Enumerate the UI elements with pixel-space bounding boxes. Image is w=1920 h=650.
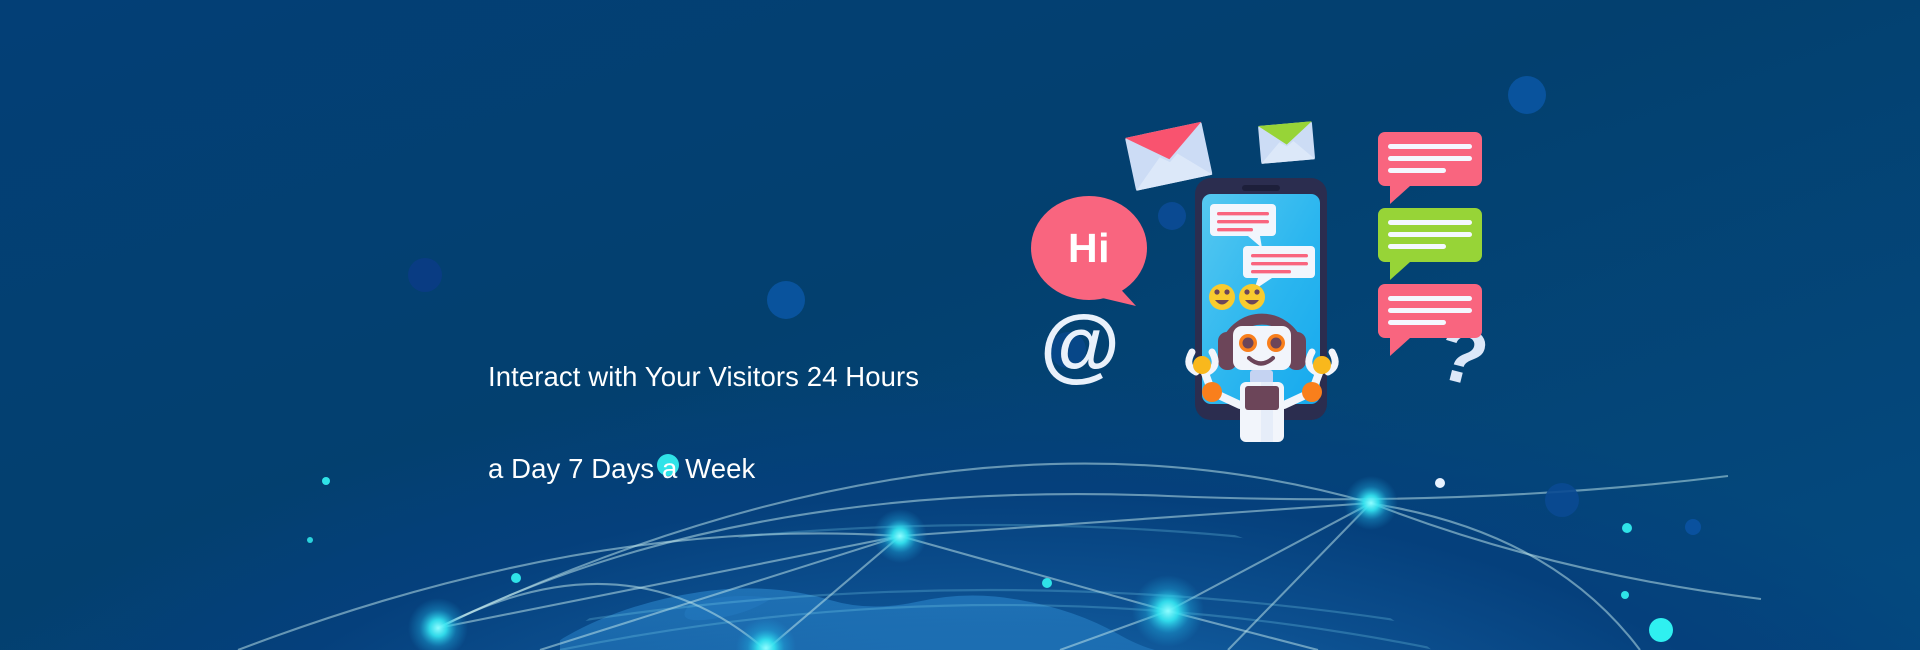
envelope-pink-icon — [1125, 122, 1213, 191]
page-title: Interact with Your Visitors 24 Hours a D… — [488, 308, 1108, 538]
robot-joint-shoulder-right — [1302, 382, 1322, 402]
dot-cyan-right-low — [1621, 591, 1629, 599]
illustration-svg: @ ? — [1030, 120, 1590, 540]
robot-chest-panel — [1245, 386, 1279, 410]
robot-joint-elbow-left — [1193, 356, 1211, 374]
dot-cyan-bright — [1649, 618, 1673, 642]
dot-cyan-small-2 — [511, 573, 521, 583]
hero-banner: Interact with Your Visitors 24 Hours a D… — [0, 0, 1920, 650]
chatbot-illustration: @ ? — [1030, 120, 1590, 540]
dot-cyan-mid — [1042, 578, 1052, 588]
robot-joint-shoulder-left — [1202, 382, 1222, 402]
headline-line-1: Interact with Your Visitors 24 Hours — [488, 354, 1108, 400]
dot-blue-far-right — [1685, 519, 1701, 535]
robot-joint-elbow-right — [1313, 356, 1331, 374]
envelope-green-icon — [1258, 121, 1315, 164]
dot-cyan-tiny-far — [307, 537, 313, 543]
hi-bubble-label: Hi — [1030, 228, 1148, 269]
emoji-smiley-2 — [1239, 284, 1265, 310]
dot-cyan-right — [1622, 523, 1632, 533]
at-symbol-icon: @ — [1040, 299, 1120, 390]
emoji-smiley-1 — [1209, 284, 1235, 310]
dot-navy-left — [408, 258, 442, 292]
headline-line-2: a Day 7 Days a Week — [488, 446, 1108, 492]
chat-bubble-green — [1378, 208, 1482, 280]
dot-navy-topright — [1508, 76, 1546, 114]
chat-bubble-pink-top — [1378, 132, 1482, 204]
dot-cyan-small-left — [322, 477, 330, 485]
